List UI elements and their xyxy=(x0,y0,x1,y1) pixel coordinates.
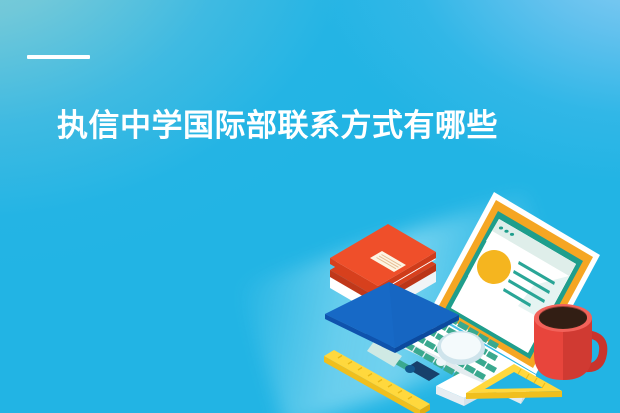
page-title: 执信中学国际部联系方式有哪些 xyxy=(57,108,498,144)
coffee-mug-icon xyxy=(534,304,607,380)
accent-rule xyxy=(27,55,90,59)
promo-banner: 执信中学国际部联系方式有哪些 xyxy=(0,0,620,413)
illustration-stage xyxy=(318,178,620,413)
ruler-icon xyxy=(324,350,430,413)
